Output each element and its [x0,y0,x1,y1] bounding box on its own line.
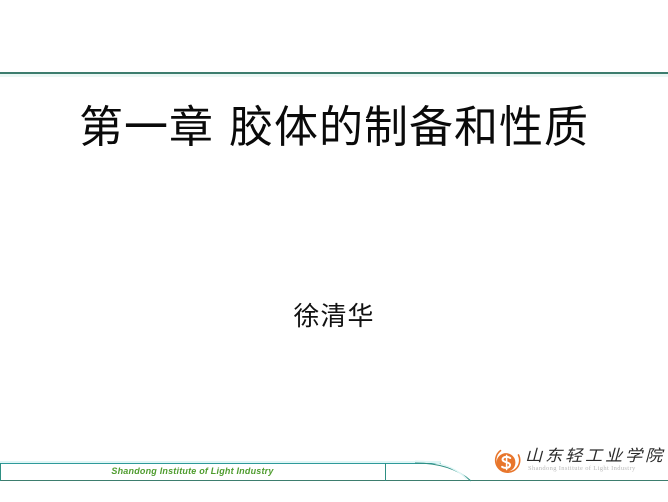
logo-institution-cn-text: 山东轻工业学院 [525,446,666,465]
slide-title: 第一章 胶体的制备和性质 [0,100,668,156]
footer-vertical-divider [385,463,386,481]
logo-institution-en: Shandong Institute of Light Industry [528,465,668,472]
presentation-slide: 第一章 胶体的制备和性质 徐清华 Shandong Institute of L… [0,0,668,502]
footer-decorative-arc [415,460,479,482]
footer-top-rule [0,463,441,464]
footer-institution-label: Shandong Institute of Light Industry [0,466,385,476]
shandong-institute-s-emblem-icon [492,447,522,477]
university-logo: 山东轻工业学院 Shandong Institute of Light Indu… [492,446,668,484]
slide-author: 徐清华 [0,300,668,334]
logo-institution-cn: 山东轻工业学院 [525,445,668,466]
top-divider-rule-highlight [0,74,668,77]
